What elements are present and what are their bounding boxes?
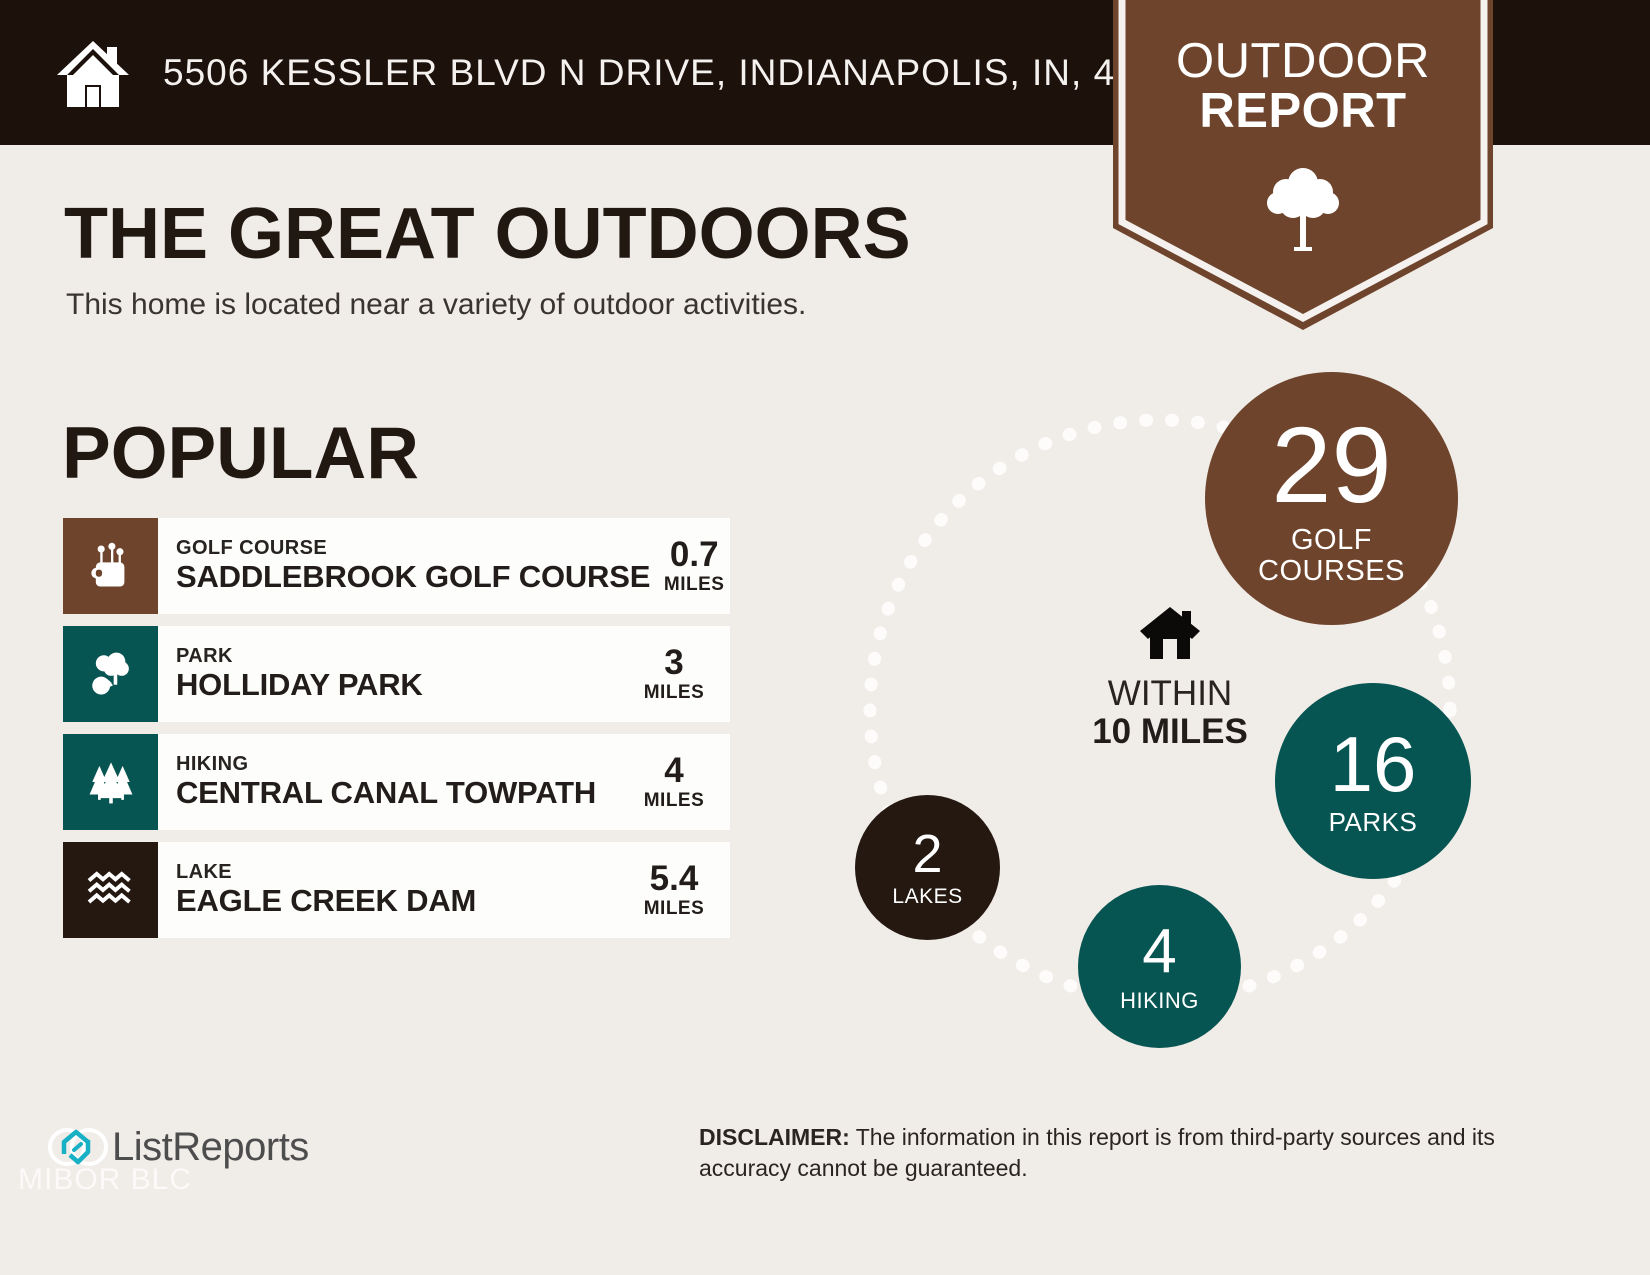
list-item-category: HIKING — [176, 753, 630, 775]
home-icon — [1138, 605, 1202, 661]
park-tree-icon — [86, 649, 136, 699]
pine-trees-icon — [86, 757, 136, 807]
list-item-distance: 4 MILES — [630, 734, 730, 830]
stat-label: GOLF COURSES — [1258, 525, 1405, 586]
badge-title: OUTDOOR REPORT — [1113, 36, 1493, 136]
proximity-diagram: 29 GOLF COURSES 16 PARKS 4 HIKING 2 LAKE… — [830, 330, 1530, 1070]
section-title-popular: POPULAR — [62, 412, 419, 495]
list-item-name: SADDLEBROOK GOLF COURSE — [176, 559, 650, 595]
list-item-icon-tile — [63, 734, 158, 830]
distance-value: 0.7 — [670, 536, 719, 574]
mibor-blc-watermark: MIBOR BLC — [18, 1163, 192, 1197]
stat-label-line-1: GOLF — [1291, 524, 1372, 556]
stat-bubble-golf-courses[interactable]: 29 GOLF COURSES — [1205, 372, 1458, 625]
list-item[interactable]: PARK HOLLIDAY PARK 3 MILES — [63, 626, 730, 722]
list-item-name: EAGLE CREEK DAM — [176, 883, 630, 919]
distance-value: 5.4 — [650, 860, 699, 898]
page-subtitle: This home is located near a variety of o… — [66, 288, 806, 322]
distance-unit: MILES — [644, 682, 705, 704]
stat-bubble-lakes[interactable]: 2 LAKES — [855, 795, 1000, 940]
list-item-icon-tile — [63, 842, 158, 938]
stat-label: LAKES — [892, 886, 962, 908]
stat-count: 2 — [912, 827, 942, 881]
stat-label: PARKS — [1329, 809, 1418, 836]
list-item-text: LAKE EAGLE CREEK DAM — [158, 842, 630, 938]
list-item-text: HIKING CENTRAL CANAL TOWPATH — [158, 734, 630, 830]
list-item-distance: 3 MILES — [630, 626, 730, 722]
distance-value: 4 — [664, 752, 683, 790]
popular-list: GOLF COURSE SADDLEBROOK GOLF COURSE 0.7 … — [63, 518, 730, 950]
list-item-text: GOLF COURSE SADDLEBROOK GOLF COURSE — [158, 518, 650, 614]
list-item-text: PARK HOLLIDAY PARK — [158, 626, 630, 722]
list-item-distance: 5.4 MILES — [630, 842, 730, 938]
outdoor-report-badge: OUTDOOR REPORT — [1113, 0, 1493, 330]
property-address: 5506 KESSLER BLVD N DRIVE, INDIANAPOLIS,… — [163, 52, 1201, 94]
list-item-category: PARK — [176, 645, 630, 667]
stat-label-line-2: COURSES — [1258, 555, 1405, 587]
diagram-center: WITHIN 10 MILES — [1035, 605, 1305, 751]
list-item-category: GOLF COURSE — [176, 537, 650, 559]
badge-line-1: OUTDOOR — [1176, 34, 1430, 88]
disclaimer-label: DISCLAIMER: — [699, 1124, 850, 1150]
list-item-category: LAKE — [176, 861, 630, 883]
distance-unit: MILES — [644, 790, 705, 812]
list-item-icon-tile — [63, 626, 158, 722]
tree-icon — [1265, 165, 1341, 251]
list-item-name: CENTRAL CANAL TOWPATH — [176, 775, 630, 811]
golf-bag-icon — [86, 541, 136, 591]
disclaimer: DISCLAIMER: The information in this repo… — [699, 1122, 1509, 1184]
stat-bubble-hiking[interactable]: 4 HIKING — [1078, 885, 1241, 1048]
distance-unit: MILES — [644, 898, 705, 920]
list-item-name: HOLLIDAY PARK — [176, 667, 630, 703]
home-icon — [55, 35, 131, 111]
center-line-1: WITHIN — [1108, 675, 1232, 713]
center-line-2: 10 MILES — [1092, 713, 1248, 751]
stat-count: 29 — [1271, 411, 1391, 519]
stat-count: 16 — [1330, 725, 1417, 803]
distance-value: 3 — [664, 644, 683, 682]
stat-count: 4 — [1142, 921, 1176, 983]
list-item-distance: 0.7 MILES — [650, 518, 750, 614]
distance-unit: MILES — [664, 574, 725, 596]
list-item-icon-tile — [63, 518, 158, 614]
waves-icon — [86, 865, 136, 915]
list-item[interactable]: LAKE EAGLE CREEK DAM 5.4 MILES — [63, 842, 730, 938]
list-item[interactable]: GOLF COURSE SADDLEBROOK GOLF COURSE 0.7 … — [63, 518, 730, 614]
page-title: THE GREAT OUTDOORS — [64, 193, 911, 275]
list-item[interactable]: HIKING CENTRAL CANAL TOWPATH 4 MILES — [63, 734, 730, 830]
badge-line-2: REPORT — [1113, 86, 1493, 136]
stat-label: HIKING — [1120, 989, 1199, 1012]
